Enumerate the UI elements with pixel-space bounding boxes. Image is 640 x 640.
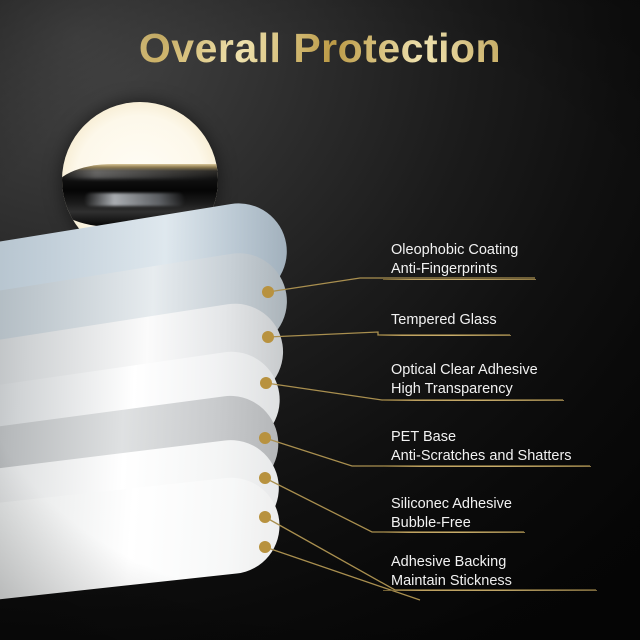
callout-line-2: Anti-Scratches and Shatters xyxy=(391,447,572,466)
connector-dot-siliconec-adhesive xyxy=(259,472,271,484)
callout-tempered-glass: Tempered Glass xyxy=(391,311,497,330)
callout-line-1: PET Base xyxy=(391,428,572,447)
connector-dot-tempered-glass xyxy=(262,331,274,343)
connector-dot-release-film xyxy=(259,541,271,553)
callout-line-2: Anti-Fingerprints xyxy=(391,260,518,279)
callout-line-2: Maintain Stickness xyxy=(391,572,512,591)
connector-dot-pet-base xyxy=(259,432,271,444)
callout-rule-pet-base xyxy=(383,466,591,467)
callout-siliconec-adhesive: Siliconec Adhesive Bubble-Free xyxy=(391,495,512,533)
connector-dot-oleophobic xyxy=(262,286,274,298)
callout-line-1: Siliconec Adhesive xyxy=(391,495,512,514)
callout-line-1: Optical Clear Adhesive xyxy=(391,361,538,380)
callout-line-1: Adhesive Backing xyxy=(391,553,512,572)
leader-lines xyxy=(0,0,640,640)
callout-pet-base: PET Base Anti-Scratches and Shatters xyxy=(391,428,572,466)
callout-optical-clear-adhesive: Optical Clear Adhesive High Transparency xyxy=(391,361,538,399)
callout-line-2: Bubble-Free xyxy=(391,514,512,533)
callout-oleophobic-coating: Oleophobic Coating Anti-Fingerprints xyxy=(391,241,518,279)
callout-rule-adhesive-backing xyxy=(383,590,597,591)
leader-line-oleophobic xyxy=(268,278,535,292)
callout-rule-siliconec-adhesive xyxy=(383,532,525,533)
callout-adhesive-backing: Adhesive Backing Maintain Stickness xyxy=(391,553,512,591)
poster-canvas: Overall Protection 2.5D Curved-Edge xyxy=(0,0,640,640)
callout-line-2: High Transparency xyxy=(391,380,538,399)
connector-dot-optical-clear-adhesive xyxy=(260,377,272,389)
callout-line-1: Oleophobic Coating xyxy=(391,241,518,260)
callout-rule-optical-clear-adhesive xyxy=(383,400,564,401)
callout-line-1: Tempered Glass xyxy=(391,311,497,330)
connector-dot-adhesive-backing xyxy=(259,511,271,523)
callout-rule-tempered-glass xyxy=(378,335,511,336)
callout-rule-oleophobic-coating xyxy=(383,279,536,280)
